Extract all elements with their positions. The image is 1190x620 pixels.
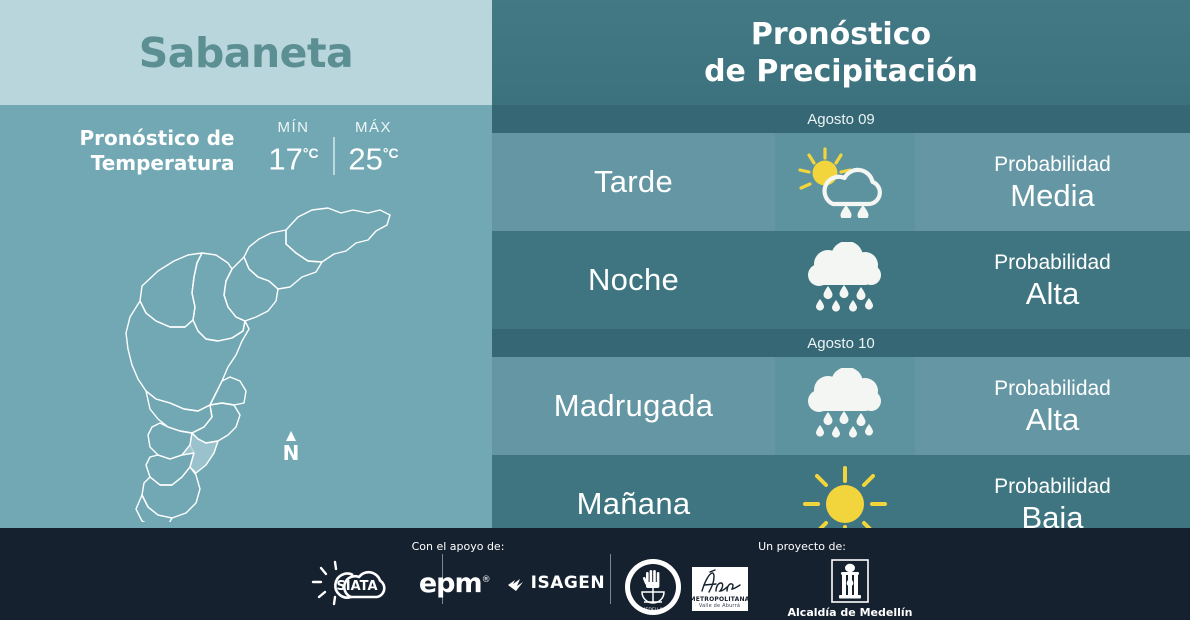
weather-icon-cell [775,455,915,528]
cloud-body [808,368,881,412]
footer-divider-2 [610,554,611,604]
alcaldia-label: Alcaldía de Medellín [788,606,913,619]
map-region-barbosa [286,208,390,262]
forecast-row-manana[interactable]: Mañana Pr [492,455,1190,528]
seal-caption: MEDELLIN [642,607,665,613]
period-cell: Noche [492,231,775,329]
temperature-min: MÍN 17°C [255,119,333,176]
compass-north-label: N [276,442,306,464]
forecast-row-noche[interactable]: Noche [492,231,1190,329]
temperature-title-line1: Pronóstico de [80,126,235,151]
alcaldia-crest-icon [831,559,869,603]
map-region-bello [192,253,245,341]
raindrop-2 [858,205,869,218]
temperature-min-value: 17°C [255,136,333,176]
epm-label: epm [419,568,482,599]
temperature-block: Pronóstico de Temperatura MÍN 17°C MÁX 2… [0,119,492,176]
raindrops [816,411,873,438]
raindrops [816,285,873,312]
weather-icon-cell [775,231,915,329]
period-cell: Mañana [492,455,775,528]
temperature-max-value: 25°C [335,136,413,176]
sun-disc [826,485,864,523]
project-group: Un proyecto de: METROPOLITANA Valle de A [672,540,932,619]
area-line2: Valle de Aburrá [699,603,740,609]
max-unit: °C [383,145,399,161]
temperature-min-label: MÍN [255,119,333,136]
date-band-agosto-10: Agosto 10 [492,329,1190,357]
area-metropolitana-logo[interactable]: METROPOLITANA Valle de Aburrá [692,567,748,611]
weather-icon-cell [775,357,915,455]
max-number: 25 [348,141,382,176]
map-region-sabaneta-highlighted [182,433,218,473]
sun-cloud-rain-icon [797,146,893,218]
temperature-title: Pronóstico de Temperatura [80,119,235,176]
support-logos: SIATA epm® ISAGEN [311,559,605,607]
period-label: Noche [588,262,679,298]
probability-caption: Probabilidad [994,152,1111,178]
page-title: Sabaneta [139,29,353,77]
isagen-label: ISAGEN [531,573,606,593]
epm-registered-mark: ® [482,575,490,585]
support-caption: Con el apoyo de: [412,540,505,553]
siata-wordmark: SIATA [336,579,377,594]
probability-cell: Probabilidad Alta [915,231,1190,329]
probability-value: Alta [1026,402,1079,437]
map-svg [50,177,450,522]
compass-rose: ▲ N [276,430,306,464]
date-label: Agosto 10 [807,335,875,352]
probability-cell: Probabilidad Media [915,133,1190,231]
period-cell: Madrugada [492,357,775,455]
sun-icon [802,465,888,528]
map-region-caldas [142,467,200,518]
project-caption: Un proyecto de: [758,540,846,553]
epm-logo[interactable]: epm® [419,568,490,599]
precipitation-header: Pronóstico de Precipitación [492,0,1190,105]
cloud-heavy-rain-icon [797,368,893,444]
city-header: Sabaneta [0,0,492,105]
alcaldia-medellin-logo[interactable]: Alcaldía de Medellín [788,559,913,619]
min-unit: °C [303,145,319,161]
min-number: 17 [268,141,302,176]
date-band-agosto-09: Agosto 09 [492,105,1190,133]
area-script-icon [696,569,744,595]
probability-caption: Probabilidad [994,250,1111,276]
map-region-medellin-south [146,391,212,433]
footer: Con el apoyo de: SIATA [0,528,1190,620]
probability-value: Media [1010,178,1094,213]
probability-caption: Probabilidad [994,474,1111,500]
raindrop-1 [841,205,852,218]
weather-icon-cell [775,133,915,231]
map-region-girardota [244,230,322,289]
area-line1: METROPOLITANA [690,596,750,603]
cloud-body [808,242,881,286]
precipitation-panel: Pronóstico de Precipitación Agosto 09 Ta… [492,0,1190,528]
precipitation-title-line1: Pronóstico [751,16,931,53]
isagen-logo[interactable]: ISAGEN [506,573,606,593]
temperature-title-line2: Temperatura [80,151,235,176]
period-label: Tarde [594,164,673,200]
temperature-values: MÍN 17°C MÁX 25°C [255,119,413,176]
isagen-mark-icon [506,573,526,593]
probability-cell: Probabilidad Baja [915,455,1190,528]
support-group: Con el apoyo de: SIATA [308,540,608,607]
project-logos: METROPOLITANA Valle de Aburrá [692,559,913,619]
period-cell: Tarde [492,133,775,231]
map-region-medellin [126,301,249,411]
forecast-row-madrugada[interactable]: Madrugada [492,357,1190,455]
date-label: Agosto 09 [807,111,875,128]
temperature-max: MÁX 25°C [335,119,413,176]
probability-cell: Probabilidad Alta [915,357,1190,455]
probability-value: Alta [1026,276,1079,311]
probability-caption: Probabilidad [994,376,1111,402]
siata-logo-icon: SIATA [311,559,403,607]
weather-forecast-infographic: Sabaneta Pronóstico de Temperatura MÍN 1… [0,0,1190,620]
temperature-max-label: MÁX [335,119,413,136]
map-region-envigado [192,403,240,443]
left-panel: Sabaneta Pronóstico de Temperatura MÍN 1… [0,0,492,528]
temperature-map-panel: Pronóstico de Temperatura MÍN 17°C MÁX 2… [0,105,492,528]
cloud-heavy-rain-icon [797,242,893,318]
probability-value: Baja [1021,500,1083,529]
footer-divider-1 [442,554,443,604]
valle-de-aburra-map [50,177,450,522]
forecast-row-tarde[interactable]: Tarde [492,133,1190,231]
siata-logo[interactable]: SIATA [311,559,403,607]
period-label: Mañana [577,486,691,522]
sun-disc [813,161,838,186]
precipitation-title-line2: de Precipitación [704,53,978,90]
period-label: Madrugada [554,388,714,424]
map-region-caldas-lower [136,495,172,522]
crest-figure [839,564,861,599]
map-region-envigado-east [210,377,246,405]
